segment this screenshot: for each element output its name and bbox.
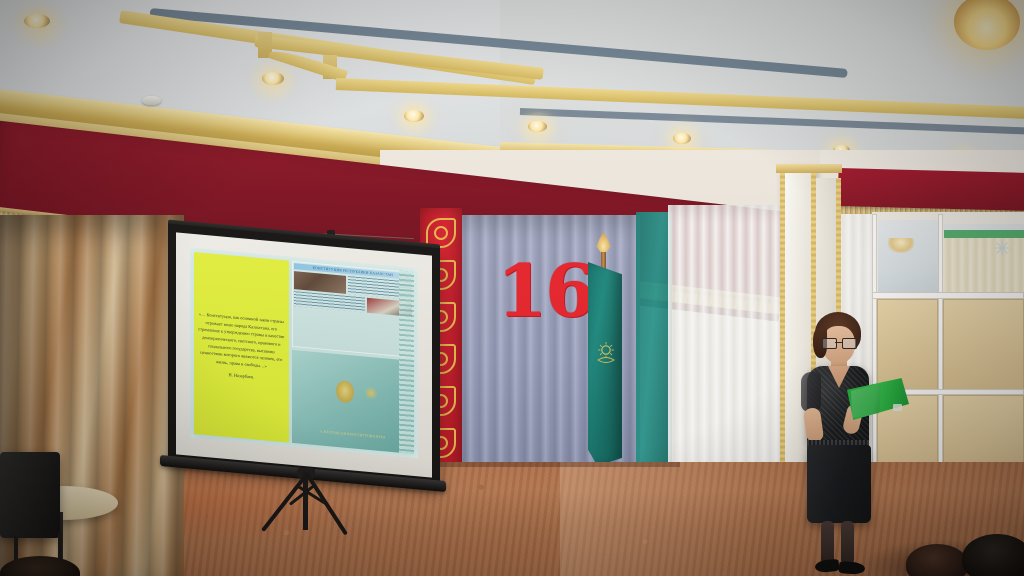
spotlight-icon [673, 133, 691, 144]
spotlight-icon [528, 121, 547, 132]
chandelier-icon [888, 238, 914, 253]
black-heel-left [814, 559, 839, 573]
window-sheer-curtain [944, 238, 1024, 296]
presenter-leg-right [841, 521, 854, 565]
spotlight-glow [14, 6, 70, 50]
window-glass [878, 220, 938, 294]
historic-group-photo [294, 271, 346, 294]
presenter-woman [795, 312, 913, 576]
folder-label [893, 404, 902, 411]
window-panel-2 [943, 299, 1024, 391]
column-gold-trim [780, 168, 785, 500]
slide-quote-panel: «… Конституция, как основной закон стран… [194, 252, 289, 443]
slide-quote-text: «… Конституция, как основной закон стран… [198, 310, 285, 384]
kazakhstan-emblem-secondary-icon [365, 386, 377, 401]
slide-flag-image: 6 ЖЕЛТОҚСАН КОНСТИТУЦИЯ КҮНІ [292, 349, 414, 454]
audience-head [906, 544, 968, 576]
anniversary-number: 16 [497, 258, 583, 330]
presenter-skirt [807, 445, 871, 523]
slide-card-top: КОНСТИТУЦИЯ РЕСПУБЛИКИ КАЗАХСТАН [292, 261, 414, 358]
teal-curtain [636, 212, 672, 480]
slide-quote-body: «… Конституция, как основной закон стран… [198, 312, 284, 369]
spotlight-icon [24, 14, 50, 28]
audience-head [962, 534, 1024, 576]
column-capital [776, 164, 842, 173]
spotlight-icon [404, 110, 424, 122]
kazakhstan-emblem-icon [336, 380, 354, 404]
anniversary-number-text: 16 [497, 248, 593, 333]
window-transom [872, 292, 1024, 299]
spotlight-icon [262, 72, 284, 85]
snowflake-decal-icon [994, 240, 1010, 256]
slide-quote-author: Н. Назарбаев. [198, 369, 285, 384]
slide-ornament-border [399, 271, 414, 454]
smoke-detector-icon [142, 96, 161, 105]
eyeglasses-icon [822, 338, 856, 347]
flag-sun-emblem-icon [595, 338, 617, 372]
dark-chair [0, 452, 60, 538]
slide-bottom-caption: 6 ЖЕЛТОҚСАН КОНСТИТУЦИЯ КҮНІ [292, 427, 414, 443]
projected-slide: «… Конституция, как основной закон стран… [190, 248, 418, 459]
photo-scene: 16 [0, 0, 1024, 576]
presenter-sleeve [801, 372, 821, 412]
slide-image-column: КОНСТИТУЦИЯ РЕСПУБЛИКИ КАЗАХСТАН 6 ЖЕЛТО… [292, 261, 414, 454]
